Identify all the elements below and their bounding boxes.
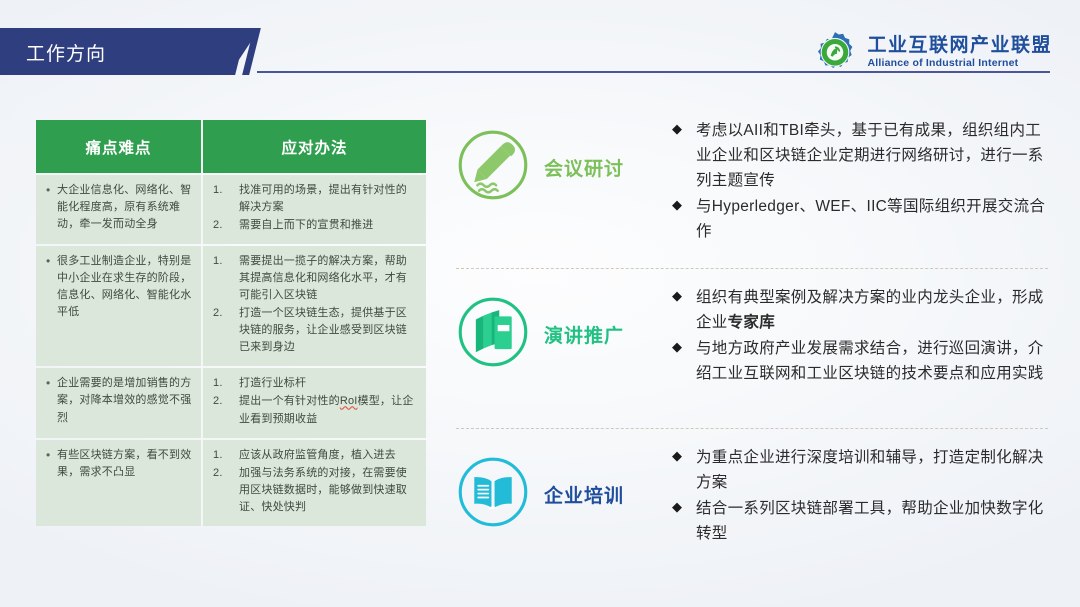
cell-pain-points: 企业需要的是增加销售的方案，对降本增效的感觉不强烈: [36, 368, 201, 437]
pain-point-item: 大企业信息化、网络化、智能化程度高，原有系统难动，牵一发而动全身: [44, 182, 193, 233]
bullet-list-enterprise-training: 为重点企业进行深度培训和辅导，打造定制化解决方案结合一系列区块链部署工具，帮助企…: [672, 445, 1056, 547]
books-circle-icon: [454, 293, 532, 371]
solution-item: 加强与法务系统的对接，在需要使用区块链数据时，能够做到快速取证、快处快判: [211, 465, 418, 516]
solution-item: 找准可用的场景，提出有针对性的解决方案: [211, 182, 418, 216]
slide-canvas: 工作方向 工业互联网产业联盟 Alliance of Industrial In…: [0, 0, 1080, 607]
organization-logo: 工业互联网产业联盟 Alliance of Industrial Interne…: [812, 30, 1052, 76]
section-label-speech-promotion: 演讲推广: [544, 321, 672, 348]
table-header-pain-points: 痛点难点: [36, 120, 201, 173]
pain-point-list: 很多工业制造企业，特别是中小企业在求生存的阶段，信息化、网络化、智能化水平低: [44, 253, 193, 321]
pencil-circle-icon: [454, 126, 532, 204]
cell-pain-points: 大企业信息化、网络化、智能化程度高，原有系统难动，牵一发而动全身: [36, 175, 201, 244]
section-divider-2: [456, 428, 1048, 429]
cell-solutions: 需要提出一揽子的解决方案，帮助其提高信息化和网络化水平，才有可能引入区块链打造一…: [201, 246, 426, 366]
table-header-solutions: 应对办法: [201, 120, 426, 173]
pain-points-solutions-table: 痛点难点 应对办法 大企业信息化、网络化、智能化程度高，原有系统难动，牵一发而动…: [36, 118, 426, 528]
bullet-item: 为重点企业进行深度培训和辅导，打造定制化解决方案: [672, 445, 1056, 495]
logo-chinese-name: 工业互联网产业联盟: [867, 36, 1052, 57]
bullet-list-conference-discussion: 考虑以AII和TBI牵头，基于已有成果，组织组内工业企业和区块链企业定期进行网络…: [672, 118, 1056, 246]
gear-logo-icon: [812, 30, 858, 76]
solution-list: 需要提出一揽子的解决方案，帮助其提高信息化和网络化水平，才有可能引入区块链打造一…: [211, 253, 418, 356]
table-row: 很多工业制造企业，特别是中小企业在求生存的阶段，信息化、网络化、智能化水平低需要…: [36, 246, 426, 366]
solution-list: 应该从政府监管角度，植入进去加强与法务系统的对接，在需要使用区块链数据时，能够做…: [211, 447, 418, 516]
solution-item: 需要提出一揽子的解决方案，帮助其提高信息化和网络化水平，才有可能引入区块链: [211, 253, 418, 304]
bullet-item: 结合一系列区块链部署工具，帮助企业加快数字化转型: [672, 496, 1056, 546]
section-enterprise-training: 企业培训 为重点企业进行深度培训和辅导，打造定制化解决方案结合一系列区块链部署工…: [448, 443, 1056, 547]
page-title: 工作方向: [26, 39, 106, 66]
solution-item: 提出一个有针对性的RoI模型，让企业看到预期收益: [211, 393, 418, 427]
section-speech-promotion: 演讲推广 组织有典型案例及解决方案的业内龙头企业，形成企业专家库与地方政府产业发…: [448, 283, 1056, 387]
solution-list: 打造行业标杆提出一个有针对性的RoI模型，让企业看到预期收益: [211, 375, 418, 427]
solution-item: 需要自上而下的宣贯和推进: [211, 217, 418, 234]
logo-english-name: Alliance of Industrial Internet: [867, 58, 1052, 70]
table-row: 企业需要的是增加销售的方案，对降本增效的感觉不强烈打造行业标杆提出一个有针对性的…: [36, 368, 426, 437]
logo-text-block: 工业互联网产业联盟 Alliance of Industrial Interne…: [867, 36, 1052, 69]
table-head: 痛点难点 应对办法: [36, 120, 426, 173]
section-divider-1: [456, 268, 1048, 269]
bullet-list-speech-promotion: 组织有典型案例及解决方案的业内龙头企业，形成企业专家库与地方政府产业发展需求结合…: [672, 285, 1056, 387]
bullet-item: 与Hyperledger、WEF、IIC等国际组织开展交流合作: [672, 194, 1056, 244]
pain-point-list: 大企业信息化、网络化、智能化程度高，原有系统难动，牵一发而动全身: [44, 182, 193, 233]
solution-item: 打造一个区块链生态，提供基于区块链的服务，让企业感受到区块链已来到身边: [211, 305, 418, 356]
cell-solutions: 打造行业标杆提出一个有针对性的RoI模型，让企业看到预期收益: [201, 368, 426, 437]
section-label-enterprise-training: 企业培训: [544, 481, 672, 508]
pain-point-list: 企业需要的是增加销售的方案，对降本增效的感觉不强烈: [44, 375, 193, 426]
bullet-item: 组织有典型案例及解决方案的业内龙头企业，形成企业专家库: [672, 285, 1056, 335]
cell-pain-points: 有些区块链方案，看不到效果，需求不凸显: [36, 440, 201, 526]
solution-item: 打造行业标杆: [211, 375, 418, 392]
pain-point-list: 有些区块链方案，看不到效果，需求不凸显: [44, 447, 193, 481]
pain-point-item: 企业需要的是增加销售的方案，对降本增效的感觉不强烈: [44, 375, 193, 426]
work-directions-panel: 会议研讨 考虑以AII和TBI牵头，基于已有成果，组织组内工业企业和区块链企业定…: [448, 108, 1056, 568]
bullet-item: 考虑以AII和TBI牵头，基于已有成果，组织组内工业企业和区块链企业定期进行网络…: [672, 118, 1056, 193]
section-label-conference-discussion: 会议研讨: [544, 154, 672, 181]
solution-list: 找准可用的场景，提出有针对性的解决方案需要自上而下的宣贯和推进: [211, 182, 418, 234]
cell-pain-points: 很多工业制造企业，特别是中小企业在求生存的阶段，信息化、网络化、智能化水平低: [36, 246, 201, 366]
section-conference-discussion: 会议研讨 考虑以AII和TBI牵头，基于已有成果，组织组内工业企业和区块链企业定…: [448, 116, 1056, 246]
cell-solutions: 找准可用的场景，提出有针对性的解决方案需要自上而下的宣贯和推进: [201, 175, 426, 244]
table-body: 大企业信息化、网络化、智能化程度高，原有系统难动，牵一发而动全身找准可用的场景，…: [36, 175, 426, 526]
table-row: 有些区块链方案，看不到效果，需求不凸显应该从政府监管角度，植入进去加强与法务系统…: [36, 440, 426, 526]
slide-title-banner: 工作方向: [0, 28, 290, 75]
cell-solutions: 应该从政府监管角度，植入进去加强与法务系统的对接，在需要使用区块链数据时，能够做…: [201, 440, 426, 526]
table-header-row: 痛点难点 应对办法: [36, 120, 426, 173]
bullet-item: 与地方政府产业发展需求结合，进行巡回演讲，介绍工业互联网和工业区块链的技术要点和…: [672, 336, 1056, 386]
solution-item: 应该从政府监管角度，植入进去: [211, 447, 418, 464]
misspelled-term: RoI: [340, 395, 358, 407]
table-row: 大企业信息化、网络化、智能化程度高，原有系统难动，牵一发而动全身找准可用的场景，…: [36, 175, 426, 244]
pain-point-item: 很多工业制造企业，特别是中小企业在求生存的阶段，信息化、网络化、智能化水平低: [44, 253, 193, 321]
pain-point-item: 有些区块链方案，看不到效果，需求不凸显: [44, 447, 193, 481]
open-book-circle-icon: [454, 453, 532, 531]
